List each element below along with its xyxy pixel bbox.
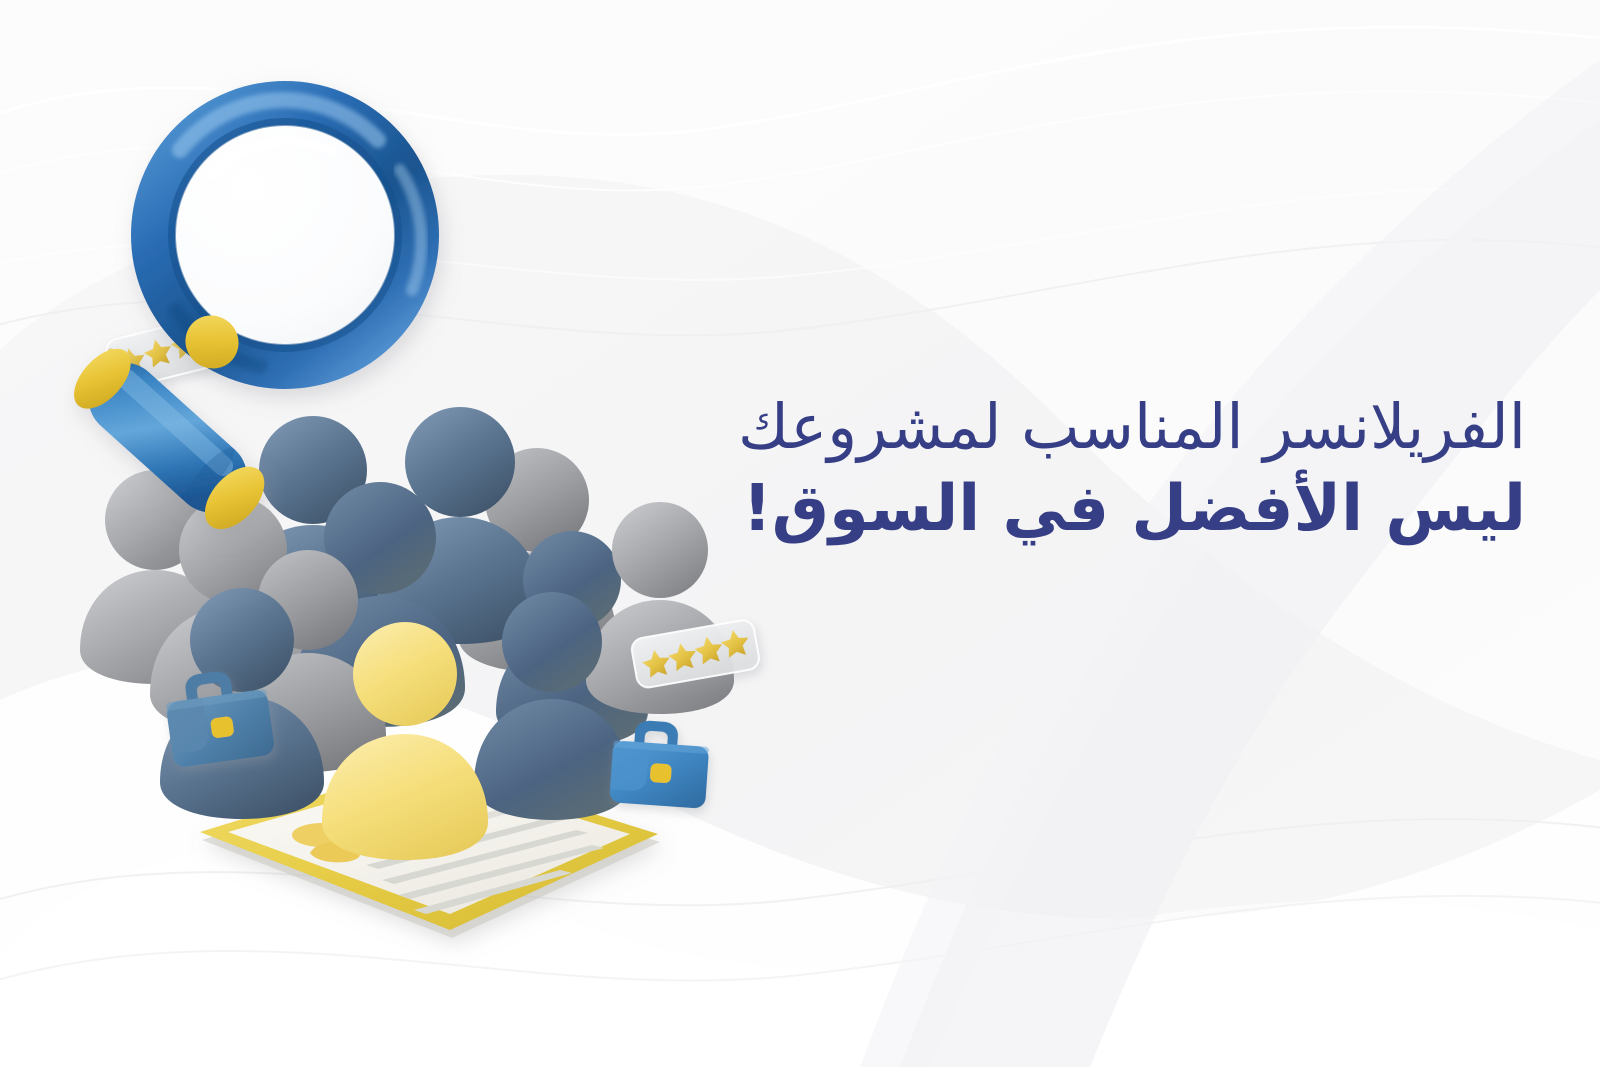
marketing-banner: الفريلانسر المناسب لمشروعك ليس الأفضل في… (0, 0, 1600, 1067)
magnifying-glass-icon (63, 100, 421, 540)
headline-line-2: ليس الأفضل في السوق! (566, 473, 1526, 546)
headline-block: الفريلانسر المناسب لمشروعك ليس الأفضل في… (566, 392, 1526, 546)
headline-line-1: الفريلانسر المناسب لمشروعك (566, 392, 1526, 463)
